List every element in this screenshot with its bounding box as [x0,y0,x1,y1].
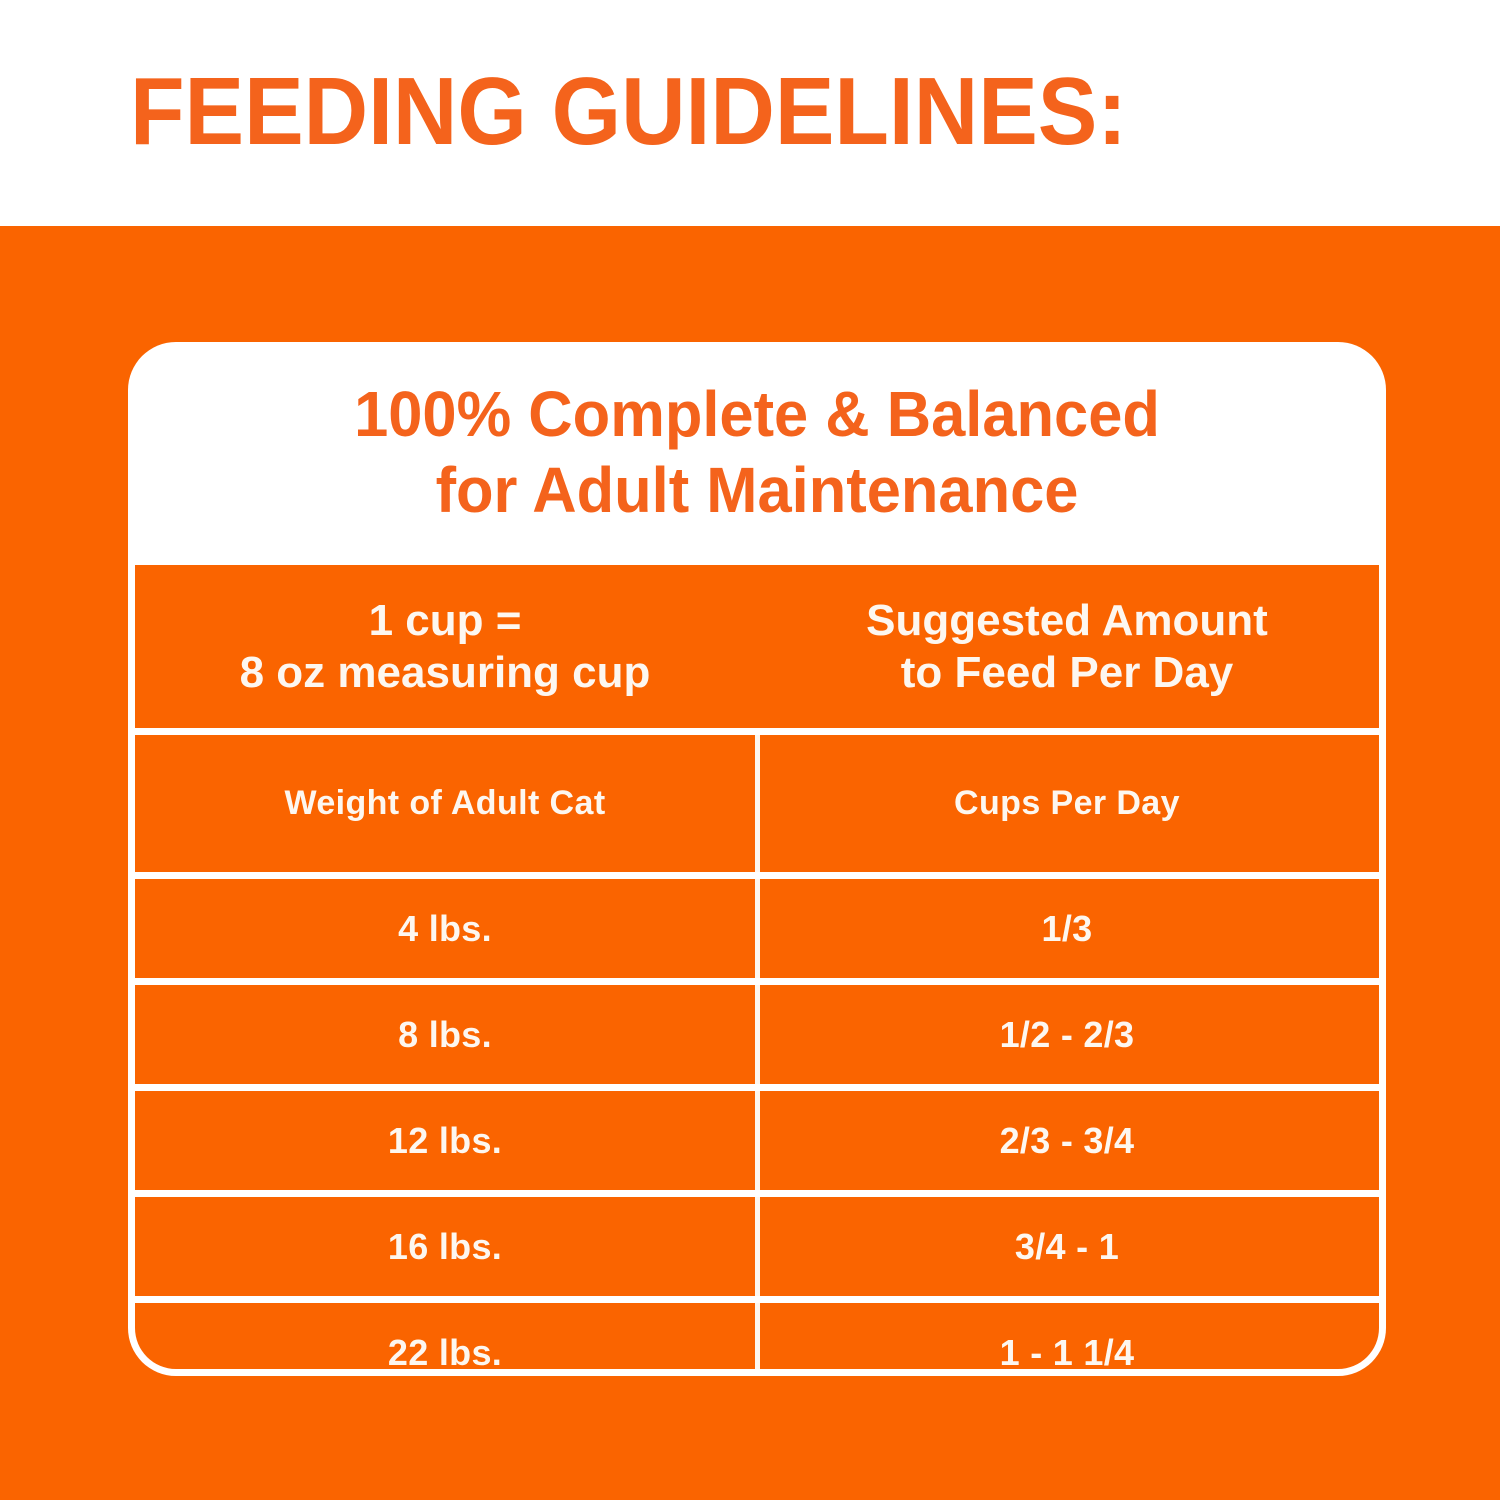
feeding-guidelines-panel: FEEDING GUIDELINES: 100% Complete & Bala… [0,0,1500,1500]
cell-weight: 4 lbs. [135,908,755,950]
feeding-table: 1 cup = 8 oz measuring cup Suggested Amo… [135,565,1379,1369]
table-row: 12 lbs. 2/3 - 3/4 [135,1091,1379,1190]
table-row: 8 lbs. 1/2 - 2/3 [135,985,1379,1084]
column-divider [755,985,760,1084]
page-title: FEEDING GUIDELINES: [130,62,1127,162]
main-header-cell-cup: 1 cup = 8 oz measuring cup [135,595,755,699]
column-divider [755,1091,760,1190]
cell-weight: 22 lbs. [135,1332,755,1370]
cell-weight: 8 lbs. [135,1014,755,1056]
column-divider [755,735,760,872]
column-header-weight: Weight of Adult Cat [135,784,755,823]
column-divider [755,1197,760,1296]
cell-cups: 2/3 - 3/4 [755,1120,1379,1162]
table-main-header-row: 1 cup = 8 oz measuring cup Suggested Amo… [135,565,1379,728]
table-row: 22 lbs. 1 - 1 1/4 [135,1303,1379,1369]
table-sub-header-row: Weight of Adult Cat Cups Per Day [135,735,1379,872]
main-header-cup-line-2: 8 oz measuring cup [135,647,755,699]
table-row: 16 lbs. 3/4 - 1 [135,1197,1379,1296]
main-header-cup-line-1: 1 cup = [135,595,755,647]
column-divider [755,879,760,978]
cell-weight: 16 lbs. [135,1226,755,1268]
header-band: FEEDING GUIDELINES: [0,0,1500,226]
main-header-amount-line-2: to Feed Per Day [755,647,1379,699]
main-header-cell-amount: Suggested Amount to Feed Per Day [755,595,1379,699]
column-divider [755,1303,760,1369]
cell-cups: 1/2 - 2/3 [755,1014,1379,1056]
main-header-amount-line-1: Suggested Amount [755,595,1379,647]
column-header-cups: Cups Per Day [755,784,1379,823]
cell-cups: 1 - 1 1/4 [755,1332,1379,1370]
table-row: 4 lbs. 1/3 [135,879,1379,978]
card-title-line-2: for Adult Maintenance [153,452,1361,528]
cell-cups: 1/3 [755,908,1379,950]
card-title-line-1: 100% Complete & Balanced [153,376,1361,452]
guidelines-card: 100% Complete & Balanced for Adult Maint… [128,342,1386,1376]
cell-weight: 12 lbs. [135,1120,755,1162]
cell-cups: 3/4 - 1 [755,1226,1379,1268]
card-title: 100% Complete & Balanced for Adult Maint… [153,376,1361,528]
